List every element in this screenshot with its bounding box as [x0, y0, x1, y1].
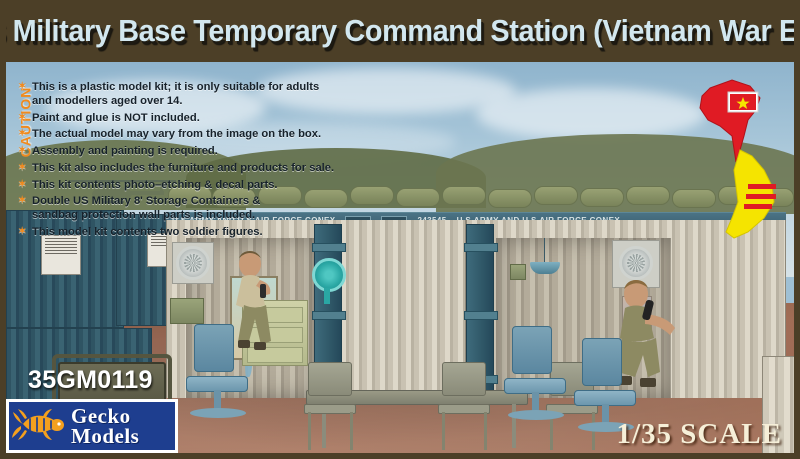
list-item: This kit contents photo–etching & decal … [32, 178, 406, 192]
brand-name-line2: Models [71, 426, 139, 446]
swivel-office-chair [504, 326, 574, 424]
list-item: Assembly and painting is required. [32, 144, 406, 158]
brand-name-line1: Gecko [71, 406, 139, 426]
list-item: Double US Military 8' Storage Containers… [32, 194, 406, 222]
folding-chair [436, 362, 492, 442]
list-item: Paint and glue is NOT included. [32, 111, 406, 125]
kit-number: 35GM0119 [28, 366, 153, 395]
scale-label: 1/35 SCALE [616, 418, 782, 451]
caution-block: CAUTION This is a plastic model kit; it … [6, 80, 406, 248]
exhaust-fan-icon [619, 246, 653, 280]
cloud [476, 88, 706, 140]
caution-bullet-list: This is a plastic model kit; it is only … [6, 80, 406, 239]
page-title: US Military Base Temporary Command Stati… [0, 13, 800, 49]
wall-switch-box [510, 264, 526, 280]
gecko-icon [9, 404, 69, 448]
list-item: This is a plastic model kit; it is only … [32, 80, 406, 108]
brand-logo: Gecko Models [6, 399, 178, 453]
desk-fan-icon [312, 258, 346, 292]
swivel-office-chair [186, 324, 256, 422]
list-item: This model kit contents two soldier figu… [32, 225, 406, 239]
vietnam-map-graphic [686, 76, 794, 248]
lamp-cord [544, 238, 545, 264]
pendant-lamp-icon [530, 262, 560, 274]
exhaust-fan-icon [176, 246, 210, 280]
folding-chair [302, 362, 358, 442]
model-kit-box-art: US Military Base Temporary Command Stati… [0, 0, 800, 459]
list-item: The actual model may vary from the image… [32, 127, 406, 141]
ammo-crate [170, 298, 204, 324]
title-bar: US Military Base Temporary Command Stati… [0, 0, 800, 62]
list-item: This kit also includes the furniture and… [32, 161, 406, 175]
desk-fan-stem [324, 288, 330, 304]
